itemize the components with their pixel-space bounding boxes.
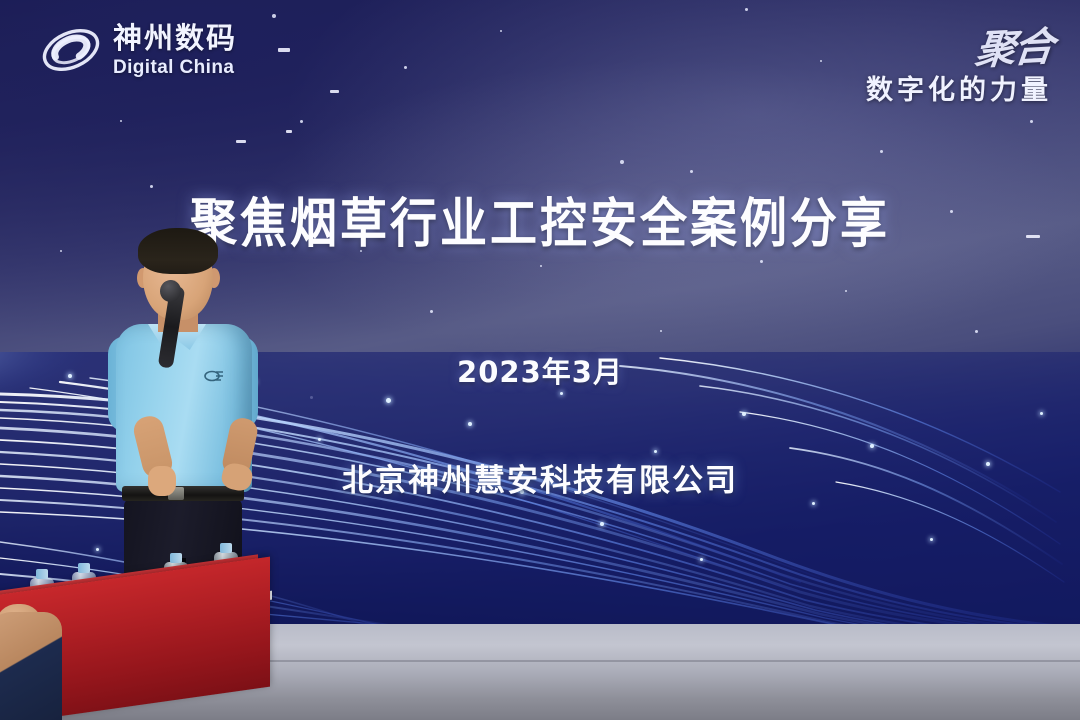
event-tagline: 数字化的力量 bbox=[866, 68, 1052, 107]
speaker-left-hand bbox=[148, 466, 176, 496]
brand-name-en: Digital China bbox=[113, 58, 237, 77]
seated-person-body bbox=[0, 612, 62, 720]
event-calligraphy: 聚合 bbox=[973, 14, 1056, 76]
digital-china-swirl-icon bbox=[40, 22, 102, 78]
shirt-chest-logo-icon bbox=[204, 368, 226, 384]
digital-china-logo: 神州数码 Digital China bbox=[40, 22, 237, 78]
event-logo: 聚合 数字化的力量 bbox=[866, 16, 1052, 107]
brand-name-cn: 神州数码 bbox=[113, 24, 237, 53]
speaker-hair bbox=[138, 228, 218, 274]
conference-photo-scene: 神州数码 Digital China 聚合 数字化的力量 聚焦烟草行业工控安全案… bbox=[0, 0, 1080, 720]
slide-title-text: 聚焦烟草行业工控安全案例分享 bbox=[190, 180, 890, 257]
